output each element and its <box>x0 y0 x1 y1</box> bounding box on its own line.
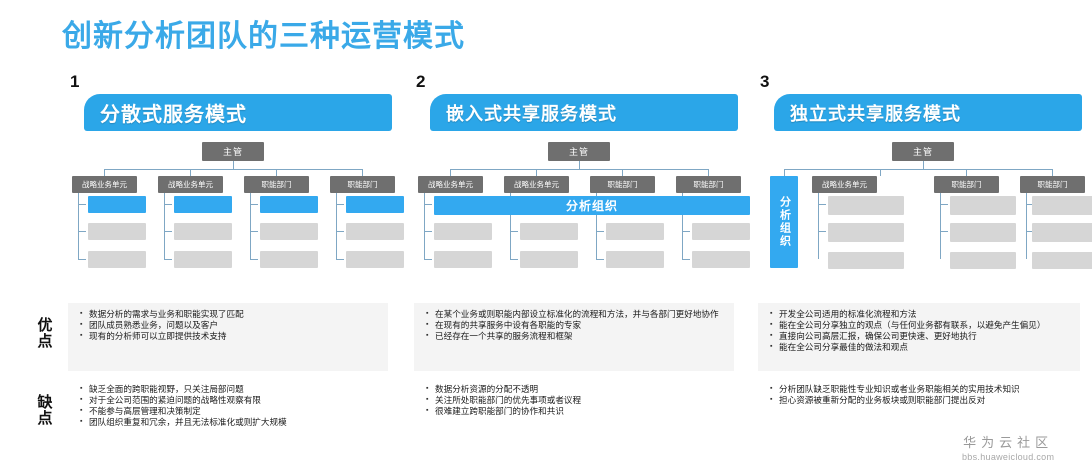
org-connector <box>424 259 432 260</box>
org-connector <box>596 259 604 260</box>
column-header-label-3: 独立式共享服务模式 <box>790 100 961 126</box>
org-connector <box>940 231 948 232</box>
org-node: 战略业务单元 <box>504 176 569 193</box>
org-cell <box>174 251 232 268</box>
org-cell <box>434 223 492 240</box>
cons-item: 数据分析资源的分配不透明 <box>426 384 726 395</box>
org-boss-node-2: 主管 <box>548 142 610 161</box>
org-connector <box>596 231 604 232</box>
org-connector <box>164 193 165 259</box>
org-cell <box>520 223 578 240</box>
watermark-url: bbs.huaweicloud.com <box>962 452 1054 462</box>
column-header-1: 分散式服务模式 <box>84 94 392 131</box>
org-connector <box>78 193 79 259</box>
org-cell-blue <box>88 196 146 213</box>
pros-item: 数据分析的需求与业务和职能实现了匹配 <box>80 309 380 320</box>
row-label-cons: 缺点 <box>34 395 56 427</box>
pros-list-1: 数据分析的需求与业务和职能实现了匹配 团队成员熟悉业务，问题以及客户 现有的分析… <box>80 309 380 342</box>
org-connector <box>250 259 258 260</box>
org-connector <box>78 231 86 232</box>
org-connector <box>78 204 86 205</box>
pros-item: 团队成员熟悉业务，问题以及客户 <box>80 320 380 331</box>
org-connector <box>250 204 258 205</box>
cons-item: 关注所处职能部门的优先事项或者议程 <box>426 395 726 406</box>
org-connector <box>336 204 344 205</box>
org-cell <box>260 251 318 268</box>
org-cell <box>606 223 664 240</box>
cons-item: 团队组织重复和冗余，并且无法标准化或则扩大规模 <box>80 417 380 428</box>
org-connector <box>880 169 881 176</box>
org-connector <box>450 169 451 176</box>
org-chart-1: 主管 战略业务单元 战略业务单元 职能部门 职能部门 <box>72 142 392 282</box>
org-node: 职能部门 <box>244 176 309 193</box>
page-title: 创新分析团队的三种运营模式 <box>62 11 465 55</box>
org-connector <box>164 231 172 232</box>
cons-item: 分析团队缺乏职能性专业知识或者业务职能相关的实用技术知识 <box>770 384 1072 395</box>
column-number-3: 3 <box>760 72 769 92</box>
cons-item: 缺乏全面的跨职能视野，只关注局部问题 <box>80 384 380 395</box>
org-connector <box>424 193 425 259</box>
org-connector <box>424 204 432 205</box>
org-cell <box>606 251 664 268</box>
org-connector <box>784 169 1052 170</box>
analysis-org-bar-2: 分析组织 <box>434 196 750 215</box>
pros-item: 在某个业务或则职能内部设立标准化的流程和方法，并与各部门更好地协作 <box>426 309 726 320</box>
org-node: 职能部门 <box>1020 176 1085 193</box>
org-connector <box>784 169 785 176</box>
org-chart-3: 主管 分析组织 战略业务单元 职能部门 职能部门 <box>762 142 1082 282</box>
org-cell <box>950 196 1016 215</box>
org-connector <box>818 204 826 205</box>
org-connector <box>940 204 948 205</box>
pros-item: 能在全公司分享独立的观点（与任何业务都有联系，以避免产生偏见） <box>770 320 1072 331</box>
org-cell <box>88 223 146 240</box>
org-connector <box>164 204 172 205</box>
watermark: 华为云社区 bbs.huaweicloud.com <box>962 432 1054 462</box>
pros-panel-1: 数据分析的需求与业务和职能实现了匹配 团队成员熟悉业务，问题以及客户 现有的分析… <box>68 303 388 371</box>
org-connector <box>450 169 708 170</box>
org-connector <box>104 169 362 170</box>
org-cell <box>692 223 750 240</box>
org-cell <box>260 223 318 240</box>
org-cell <box>1032 252 1092 269</box>
org-connector <box>1026 193 1027 259</box>
org-connector <box>940 193 941 259</box>
org-node: 战略业务单元 <box>418 176 483 193</box>
watermark-name: 华为云社区 <box>962 432 1054 451</box>
org-cell <box>1032 196 1092 215</box>
org-node: 职能部门 <box>330 176 395 193</box>
org-node: 职能部门 <box>934 176 999 193</box>
cons-panel-2: 数据分析资源的分配不透明 关注所处职能部门的优先事项或者议程 很难建立跨职能部门… <box>414 378 734 454</box>
org-connector <box>250 193 251 259</box>
org-cell <box>174 223 232 240</box>
org-connector <box>164 259 172 260</box>
pros-item: 能在全公司分享最佳的做法和观点 <box>770 342 1072 353</box>
pros-item: 开发全公司适用的标准化流程和方法 <box>770 309 1072 320</box>
org-connector <box>250 231 258 232</box>
cons-list-1: 缺乏全面的跨职能视野，只关注局部问题 对于全公司范围的紧迫问题的战略性观察有限 … <box>80 384 380 428</box>
pros-item: 直接向公司高层汇报，确保公司更快速、更好地执行 <box>770 331 1072 342</box>
org-cell <box>346 251 404 268</box>
org-cell-blue <box>174 196 232 213</box>
org-boss-node-3: 主管 <box>892 142 954 161</box>
org-cell <box>346 223 404 240</box>
org-cell <box>828 252 904 269</box>
cons-panel-1: 缺乏全面的跨职能视野，只关注局部问题 对于全公司范围的紧迫问题的战略性观察有限 … <box>68 378 388 454</box>
org-connector <box>336 259 344 260</box>
org-connector <box>923 161 924 169</box>
slide-root: 创新分析团队的三种运营模式 1 分散式服务模式 主管 战略业务单元 战略业务单元… <box>0 0 1092 469</box>
org-connector <box>708 169 709 176</box>
cons-item: 很难建立跨职能部门的协作和共识 <box>426 406 726 417</box>
column-header-label-1: 分散式服务模式 <box>100 98 247 127</box>
cons-item: 对于全公司范围的紧迫问题的战略性观察有限 <box>80 395 380 406</box>
cons-list-3: 分析团队缺乏职能性专业知识或者业务职能相关的实用技术知识 担心资源被重新分配的业… <box>770 384 1072 406</box>
org-connector <box>233 161 234 169</box>
org-connector <box>1052 169 1053 176</box>
column-number-2: 2 <box>416 72 425 92</box>
org-node: 战略业务单元 <box>72 176 137 193</box>
org-connector <box>362 169 363 176</box>
pros-item: 现有的分析师可以立即提供技术支持 <box>80 331 380 342</box>
cons-item: 担心资源被重新分配的业务板块或则职能部门提出反对 <box>770 395 1072 406</box>
pros-item: 已经存在一个共享的服务流程和框架 <box>426 331 726 342</box>
org-cell <box>1032 223 1092 242</box>
column-number-1: 1 <box>70 72 79 92</box>
org-cell <box>828 196 904 215</box>
pros-panel-2: 在某个业务或则职能内部设立标准化的流程和方法，并与各部门更好地协作 在现有的共享… <box>414 303 734 371</box>
cons-list-2: 数据分析资源的分配不透明 关注所处职能部门的优先事项或者议程 很难建立跨职能部门… <box>426 384 726 417</box>
analysis-org-bar-3: 分析组织 <box>770 176 798 268</box>
column-header-2: 嵌入式共享服务模式 <box>430 94 738 131</box>
org-connector <box>276 169 277 176</box>
org-connector <box>104 169 105 176</box>
org-connector <box>424 231 432 232</box>
org-cell <box>950 223 1016 242</box>
org-connector <box>336 193 337 259</box>
org-node: 职能部门 <box>676 176 741 193</box>
org-cell <box>434 251 492 268</box>
org-cell <box>520 251 578 268</box>
org-connector <box>78 259 86 260</box>
org-connector <box>682 259 690 260</box>
org-connector <box>818 193 819 259</box>
org-connector <box>818 231 826 232</box>
org-connector <box>336 231 344 232</box>
cons-item: 不能参与高层管理和决策制定 <box>80 406 380 417</box>
org-connector <box>579 161 580 169</box>
org-connector <box>966 169 967 176</box>
org-connector <box>510 259 518 260</box>
org-node: 战略业务单元 <box>158 176 223 193</box>
org-connector <box>536 169 537 176</box>
column-header-label-2: 嵌入式共享服务模式 <box>446 100 617 126</box>
org-connector <box>190 169 191 176</box>
org-node: 职能部门 <box>590 176 655 193</box>
org-cell <box>692 251 750 268</box>
org-node: 战略业务单元 <box>812 176 877 193</box>
org-boss-node-1: 主管 <box>202 142 264 161</box>
column-header-3: 独立式共享服务模式 <box>774 94 1082 131</box>
org-cell <box>828 223 904 242</box>
org-connector <box>622 169 623 176</box>
pros-panel-3: 开发全公司适用的标准化流程和方法 能在全公司分享独立的观点（与任何业务都有联系，… <box>758 303 1080 371</box>
org-cell <box>950 252 1016 269</box>
org-cell <box>88 251 146 268</box>
org-chart-2: 主管 战略业务单元 战略业务单元 职能部门 职能部门 分析组织 <box>418 142 738 282</box>
pros-list-3: 开发全公司适用的标准化流程和方法 能在全公司分享独立的观点（与任何业务都有联系，… <box>770 309 1072 353</box>
org-cell-blue <box>346 196 404 213</box>
pros-item: 在现有的共享服务中设有各职能的专家 <box>426 320 726 331</box>
org-cell-blue <box>260 196 318 213</box>
row-label-pros: 优点 <box>34 318 56 350</box>
pros-list-2: 在某个业务或则职能内部设立标准化的流程和方法，并与各部门更好地协作 在现有的共享… <box>426 309 726 342</box>
org-connector <box>510 231 518 232</box>
org-connector <box>682 231 690 232</box>
